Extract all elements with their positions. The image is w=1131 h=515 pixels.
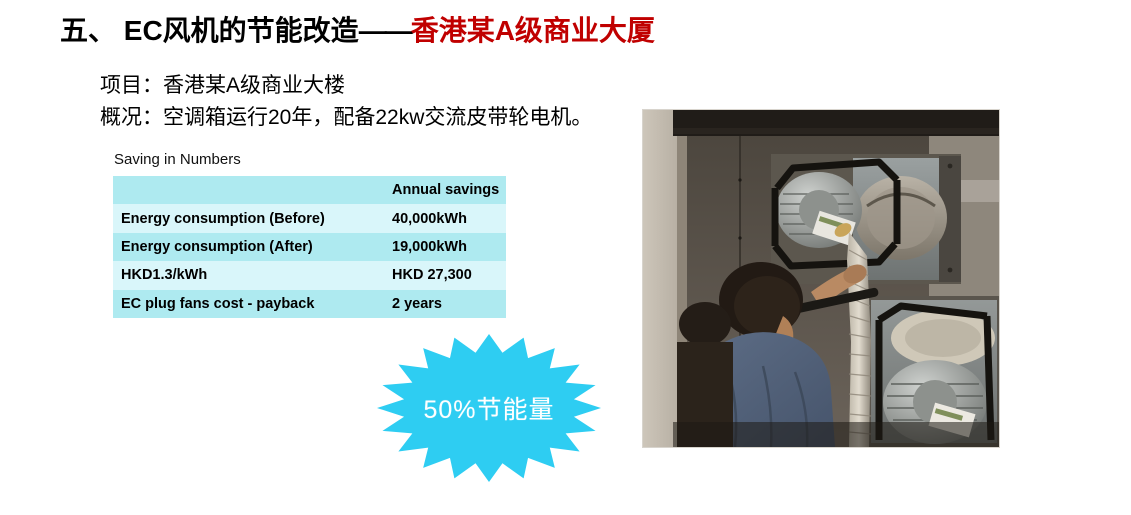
row-value: 40,000kWh	[392, 204, 506, 232]
table-row: HKD1.3/kWh HKD 27,300	[113, 261, 506, 289]
project-line: 项目：香港某A级商业大楼	[100, 72, 345, 100]
row-value: 19,000kWh	[392, 233, 506, 261]
page-title-dash: ——	[359, 15, 411, 46]
page-title-accent: 香港某A级商业大厦	[411, 15, 655, 46]
overview-line: 概况：空调箱运行20年，配备22kw交流皮带轮电机。	[100, 104, 592, 132]
energy-saving-badge: 50%节能量	[376, 333, 602, 483]
installation-photo	[643, 110, 999, 447]
table-header-row: Annual savings	[113, 176, 506, 204]
savings-table-caption: Saving in Numbers	[114, 151, 241, 168]
row-label: Energy consumption (After)	[113, 233, 392, 261]
column-header-annual-savings: Annual savings	[392, 176, 506, 204]
row-label: EC plug fans cost - payback	[113, 290, 392, 318]
table-row: Energy consumption (Before) 40,000kWh	[113, 204, 506, 232]
row-value: 2 years	[392, 290, 506, 318]
row-label: Energy consumption (Before)	[113, 204, 392, 232]
savings-table: Annual savings Energy consumption (Befor…	[113, 176, 506, 318]
page-title: 五、 EC风机的节能改造——香港某A级商业大厦	[60, 14, 655, 48]
photo-installation-icon	[643, 110, 999, 447]
table-row: EC plug fans cost - payback 2 years	[113, 290, 506, 318]
column-header-blank	[113, 176, 392, 204]
energy-saving-badge-label: 50%节能量	[376, 333, 602, 483]
row-label: HKD1.3/kWh	[113, 261, 392, 289]
row-value: HKD 27,300	[392, 261, 506, 289]
page-title-main: 五、 EC风机的节能改造	[60, 15, 359, 46]
table-row: Energy consumption (After) 19,000kWh	[113, 233, 506, 261]
